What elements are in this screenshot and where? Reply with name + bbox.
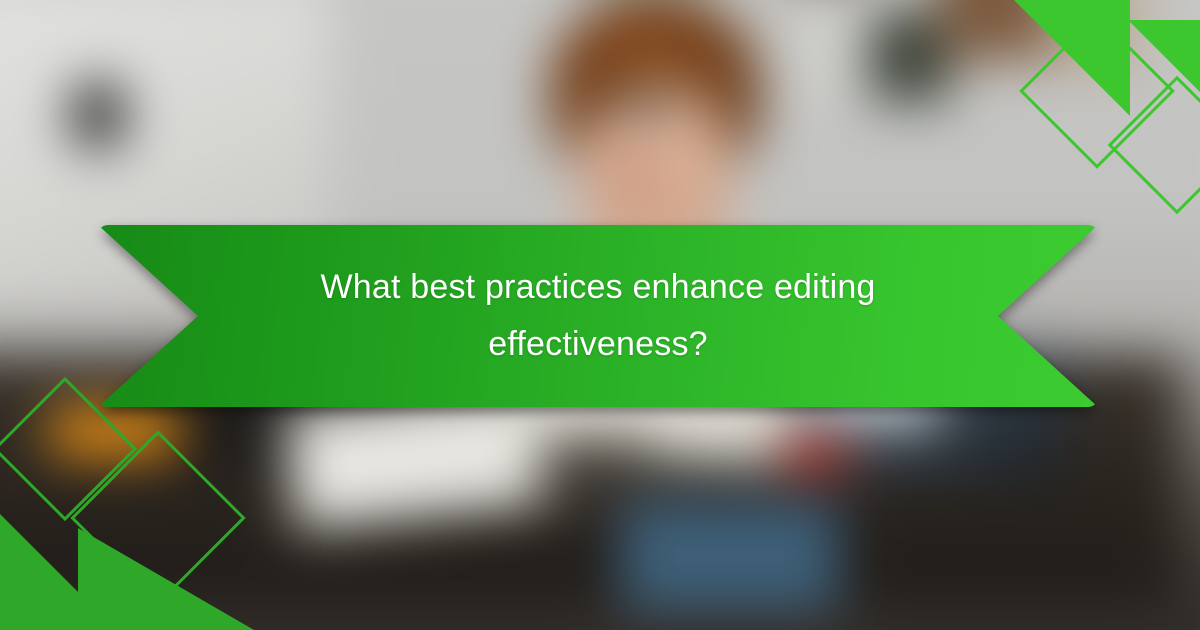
person-mouth xyxy=(612,162,658,180)
background-chair xyxy=(620,500,840,610)
desk-object-red xyxy=(780,435,850,475)
wall-frame-d xyxy=(870,12,950,102)
page-title-line-1: What best practices enhance editing xyxy=(320,259,875,316)
page-title-line-2: effectiveness? xyxy=(488,316,708,373)
share-card-canvas: What best practices enhance editing effe… xyxy=(0,0,1200,630)
background-monitor-detail xyxy=(70,80,126,150)
person-eyes xyxy=(595,90,685,118)
desk-object-orange xyxy=(50,408,180,456)
title-ribbon-banner: What best practices enhance editing effe… xyxy=(98,225,1098,407)
desk-gadget xyxy=(540,440,650,500)
wall-frame-e xyxy=(940,0,1060,60)
page-title: What best practices enhance editing effe… xyxy=(218,225,978,407)
wall-frame-f xyxy=(1048,0,1138,70)
